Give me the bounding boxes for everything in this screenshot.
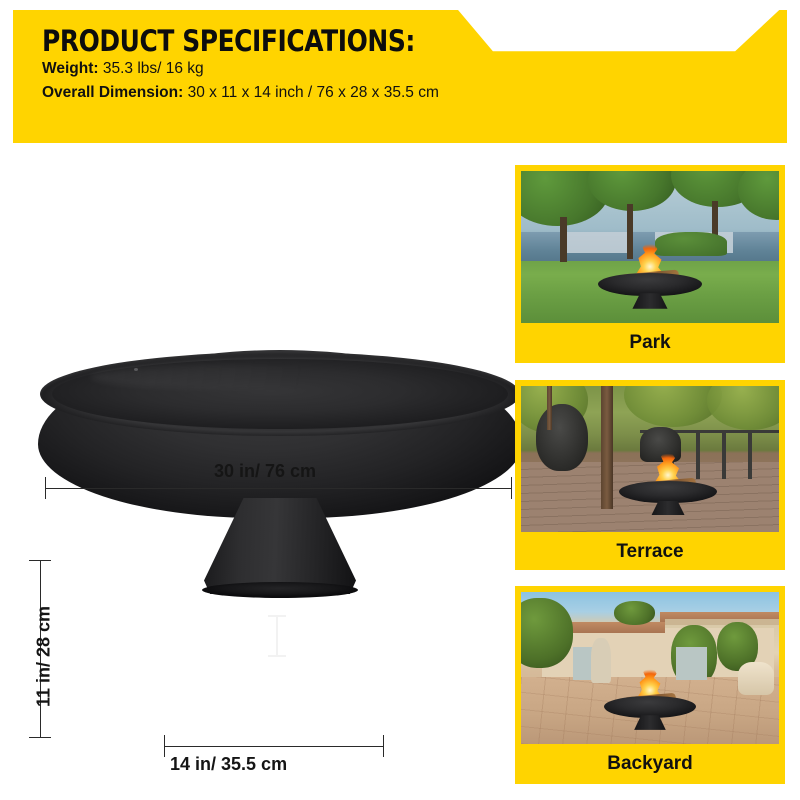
dimension-label-top-width: 30 in/ 76 cm xyxy=(214,461,316,482)
park-hedge xyxy=(655,232,727,256)
dimension-line-bowl-depth xyxy=(276,615,278,657)
spec-row-weight: Weight: 35.3 lbs/ 16 kg xyxy=(42,58,787,80)
terrace-post-left xyxy=(547,386,552,430)
dimension-label-height: 11 in/ 28 cm xyxy=(34,577,55,737)
spec-label-weight: Weight: xyxy=(42,60,99,77)
dimension-tick-height-top xyxy=(29,560,51,561)
product-diagram: 30 in/ 76 cm 11 in/ 28 cm 5.5 in/ 14 cm … xyxy=(0,150,500,800)
dimension-label-bowl-depth: 5.5 in/ 14 cm xyxy=(291,623,392,643)
dimension-line-top-width xyxy=(45,488,512,489)
terrace-chair-right xyxy=(640,427,681,462)
dimension-tick-height-bottom xyxy=(29,737,51,738)
dimension-tick-depth-bottom xyxy=(268,655,286,657)
mini-bowl-top xyxy=(604,696,697,718)
dimension-tick-depth-top xyxy=(268,615,286,617)
dimension-tick-base-left xyxy=(164,735,165,757)
scene-label-terrace: Terrace xyxy=(521,532,779,572)
product-specifications-banner: PRODUCT SPECIFICATIONS: Weight: 35.3 lbs… xyxy=(13,10,787,143)
scene-card-terrace: Terrace xyxy=(515,380,785,570)
spec-value-weight: 35.3 lbs/ 16 kg xyxy=(99,60,204,77)
mini-fire-bowl-terrace xyxy=(619,468,717,518)
terrace-hanging-chair xyxy=(536,404,588,471)
scene-photo-backyard xyxy=(521,592,779,744)
spec-label-dimension: Overall Dimension: xyxy=(42,84,183,101)
dimension-tick-base-right xyxy=(383,735,384,757)
banner-content: PRODUCT SPECIFICATIONS: Weight: 35.3 lbs… xyxy=(42,26,787,104)
scene-label-backyard: Backyard xyxy=(521,744,779,784)
page-title: PRODUCT SPECIFICATIONS: xyxy=(42,26,683,56)
scene-card-backyard: Backyard xyxy=(515,586,785,784)
mini-bowl-top xyxy=(619,481,717,504)
scene-card-park: Park xyxy=(515,165,785,363)
park-tree-trunk-1 xyxy=(560,217,568,263)
backyard-fountain xyxy=(591,638,612,684)
bowl-screw-detail xyxy=(134,368,138,371)
scene-label-park: Park xyxy=(521,323,779,363)
dimension-label-base-width: 14 in/ 35.5 cm xyxy=(170,754,287,775)
backyard-wicker-chair xyxy=(738,662,774,695)
mini-fire-bowl-backyard xyxy=(604,683,697,732)
backyard-palm-center xyxy=(614,601,655,625)
mini-bowl-top xyxy=(598,273,701,297)
spec-value-dimension: 30 x 11 x 14 inch / 76 x 28 x 35.5 cm xyxy=(183,84,439,101)
park-tree-trunk-2 xyxy=(627,204,633,259)
park-building-left xyxy=(562,232,629,253)
terrace-railing-baluster-3 xyxy=(722,430,726,480)
bowl-pedestal-foot xyxy=(202,582,358,598)
spec-row-dimension: Overall Dimension: 30 x 11 x 14 inch / 7… xyxy=(42,82,787,104)
mini-fire-bowl-park xyxy=(598,259,701,311)
dimension-tick-top-right xyxy=(511,477,512,499)
terrace-railing-baluster-4 xyxy=(748,430,752,480)
terrace-post-center xyxy=(601,386,613,509)
scene-photo-terrace xyxy=(521,386,779,532)
backyard-pergola-beam xyxy=(665,619,779,625)
backyard-door xyxy=(676,647,707,680)
backyard-palm-left xyxy=(521,598,573,668)
dimension-line-base-width xyxy=(164,746,384,747)
dimension-tick-top-left xyxy=(45,477,46,499)
scene-photo-park xyxy=(521,171,779,323)
